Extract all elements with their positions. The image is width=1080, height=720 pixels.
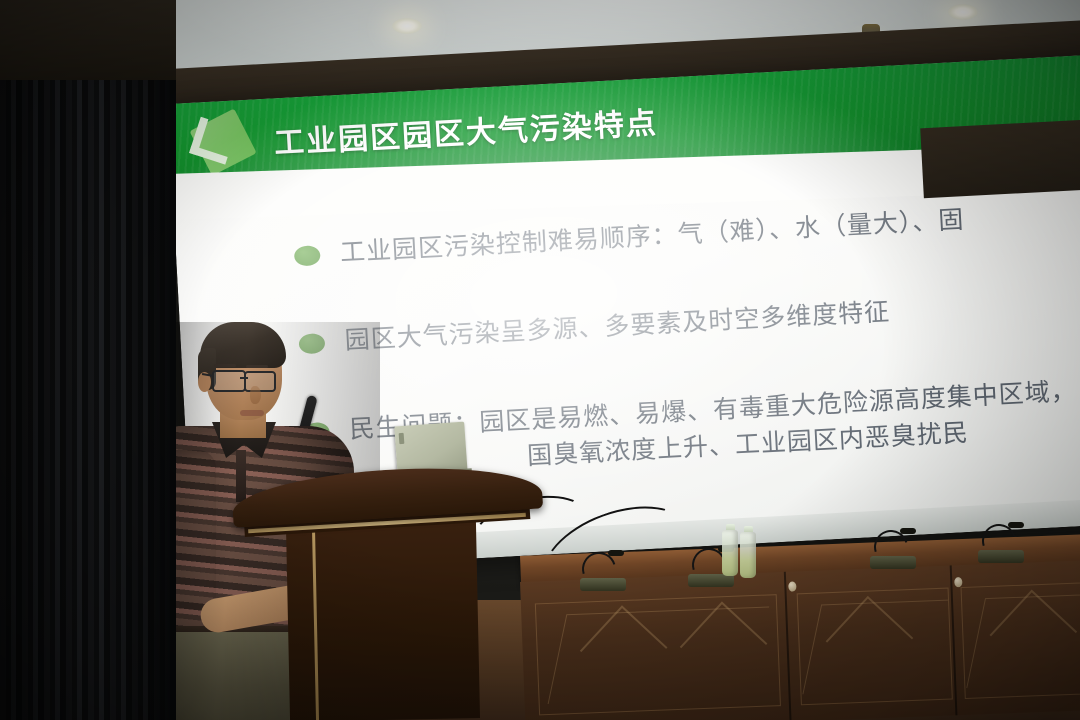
speaker-nose bbox=[250, 386, 261, 404]
bottle-body bbox=[722, 530, 738, 576]
bullet-dot-icon bbox=[294, 245, 321, 266]
bullet-text: 园区大气污染呈多源、多要素及时空多维度特征 bbox=[344, 278, 1080, 360]
slide-logo bbox=[191, 109, 258, 176]
microphone-head-icon bbox=[900, 528, 916, 534]
microphone-head-icon bbox=[1008, 522, 1024, 528]
speaker-trousers bbox=[154, 632, 304, 720]
table-knob-icon bbox=[954, 577, 962, 587]
eyeglasses-bridge bbox=[240, 377, 248, 379]
laptop-logo-icon bbox=[399, 433, 405, 444]
eyeglasses-icon bbox=[212, 370, 246, 392]
bottle-body bbox=[740, 532, 756, 578]
shirt-placket bbox=[236, 450, 246, 502]
conference-photo-scene: 工业园区园区大气污染特点 工业园区污染控制难易顺序：气（难）、水（量大）、固 园… bbox=[0, 0, 1080, 720]
ceiling-spotlight-icon bbox=[948, 4, 978, 20]
curtain-edge bbox=[150, 60, 176, 720]
wall-left bbox=[0, 0, 176, 80]
list-item: 园区大气污染呈多源、多要素及时空多维度特征 bbox=[298, 278, 1080, 362]
speaker-brow bbox=[214, 364, 236, 367]
speaker-brow bbox=[246, 365, 268, 368]
table-seam bbox=[784, 572, 792, 720]
table-knob-icon bbox=[788, 581, 796, 591]
wall-right bbox=[920, 120, 1080, 198]
ceiling-spotlight-icon bbox=[392, 18, 422, 34]
speaker-mouth bbox=[240, 410, 264, 416]
